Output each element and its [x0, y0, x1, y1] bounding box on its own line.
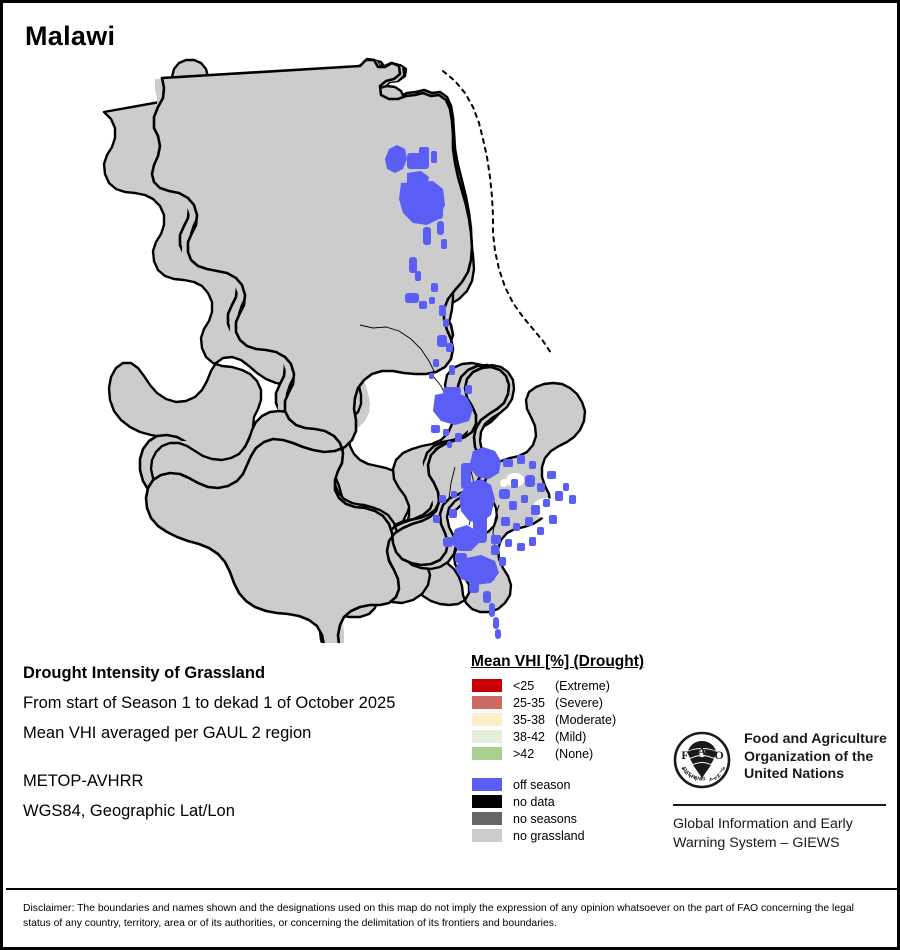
legend-label-mild: 38-42(Mild)	[513, 730, 586, 744]
legend-label-no-seasons: no seasons	[513, 812, 577, 826]
legend-swatch-extreme	[471, 678, 503, 693]
legend-label-off-season: off season	[513, 778, 570, 792]
fao-header: A F O FIAT PANIS F I A T P A N	[673, 731, 888, 794]
legend: Mean VHI [%] (Drought) <25(Extreme) 25-3…	[471, 653, 671, 844]
legend-row-mild: 38-42(Mild)	[471, 728, 671, 745]
caption-gap	[23, 748, 453, 766]
fao-org-line2: Organization of the	[744, 749, 887, 767]
fao-divider	[673, 804, 886, 806]
legend-row-no-grassland: no grassland	[471, 827, 671, 844]
fao-organization-name: Food and Agriculture Organization of the…	[744, 731, 887, 784]
giews-line1: Global Information and Early	[673, 815, 888, 834]
legend-swatch-no-seasons	[471, 811, 503, 826]
fao-logo-icon: A F O FIAT PANIS F I A T P A N	[673, 731, 731, 794]
caption-heading: Drought Intensity of Grassland	[23, 658, 453, 688]
legend-row-extreme: <25(Extreme)	[471, 677, 671, 694]
legend-swatch-none	[471, 746, 503, 761]
legend-row-none: >42(None)	[471, 745, 671, 762]
legend-row-moderate: 35-38(Moderate)	[471, 711, 671, 728]
legend-swatch-mild	[471, 729, 503, 744]
legend-label-no-data: no data	[513, 795, 555, 809]
legend-swatch-off-season	[471, 777, 503, 792]
svg-text:O: O	[714, 748, 723, 762]
legend-spacer	[471, 762, 671, 776]
svg-text:A: A	[698, 744, 707, 758]
svg-text:F: F	[681, 748, 688, 762]
caption-aggregation: Mean VHI averaged per GAUL 2 region	[23, 718, 453, 748]
giews-line2: Warning System – GIEWS	[673, 834, 888, 853]
legend-label-extreme: <25(Extreme)	[513, 679, 610, 693]
legend-row-no-data: no data	[471, 793, 671, 810]
legend-swatch-severe	[471, 695, 503, 710]
fao-branding: A F O FIAT PANIS F I A T P A N	[673, 731, 888, 853]
caption-sensor: METOP-AVHRR	[23, 766, 453, 796]
fao-org-line1: Food and Agriculture	[744, 731, 887, 749]
legend-label-none: >42(None)	[513, 747, 593, 761]
legend-row-off-season: off season	[471, 776, 671, 793]
legend-label-no-grassland: no grassland	[513, 829, 585, 843]
legend-swatch-no-data	[471, 794, 503, 809]
legend-row-no-seasons: no seasons	[471, 810, 671, 827]
disclaimer-text: Disclaimer: The boundaries and names sho…	[23, 901, 883, 931]
legend-row-severe: 25-35(Severe)	[471, 694, 671, 711]
legend-swatch-moderate	[471, 712, 503, 727]
giews-programme-name: Global Information and Early Warning Sys…	[673, 815, 888, 853]
fao-org-line3: United Nations	[744, 766, 887, 784]
legend-swatch-no-grassland	[471, 828, 503, 843]
legend-label-moderate: 35-38(Moderate)	[513, 713, 616, 727]
caption-block: Drought Intensity of Grassland From star…	[23, 658, 453, 826]
legend-title: Mean VHI [%] (Drought)	[471, 653, 671, 671]
map-poster: Malawi	[0, 0, 900, 950]
caption-period: From start of Season 1 to dekad 1 of Oct…	[23, 688, 453, 718]
caption-projection: WGS84, Geographic Lat/Lon	[23, 796, 453, 826]
disclaimer-divider	[6, 888, 897, 890]
legend-label-severe: 25-35(Severe)	[513, 696, 603, 710]
map-figure	[3, 43, 897, 643]
